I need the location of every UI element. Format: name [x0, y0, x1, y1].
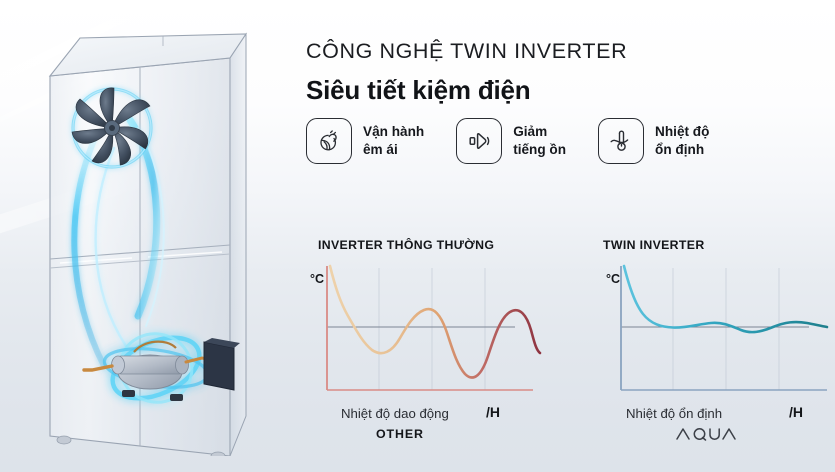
fridge-cabinet: [50, 34, 246, 456]
aqua-logo-icon: [675, 426, 737, 441]
chart-twin-inverter: TWIN INVERTER °C: [595, 238, 835, 472]
chart-brand-label-aqua: [675, 426, 737, 441]
eyebrow-title: CÔNG NGHỆ TWIN INVERTER: [306, 39, 627, 64]
chart-brand-label: OTHER: [376, 427, 424, 441]
chart-caption: Nhiệt độ ổn định: [626, 406, 722, 421]
feature-item-label: Giảm tiếng ồn: [513, 123, 566, 159]
feature-item-quiet-operation: Vận hành êm ái: [306, 118, 424, 164]
feature-item-label: Vận hành êm ái: [363, 123, 424, 159]
gridlines: [379, 268, 485, 390]
page-title: Siêu tiết kiệm điện: [306, 75, 531, 106]
x-axis-unit-label: /H: [789, 404, 803, 420]
refrigerator-illustration: [34, 16, 270, 456]
chart-title: INVERTER THÔNG THƯỜNG: [318, 238, 494, 252]
x-axis-unit-label: /H: [486, 404, 500, 420]
promo-banner: CÔNG NGHỆ TWIN INVERTER Siêu tiết kiệm đ…: [0, 0, 835, 472]
speaker-sound-icon: [456, 118, 502, 164]
feature-item-stable-temperature: Nhiệt độ ổn định: [598, 118, 709, 164]
feature-list: Vận hành êm ái Giảm tiếng ồn: [306, 118, 709, 164]
chart-caption: Nhiệt độ dao động: [341, 406, 449, 421]
thermometer-stable-icon: [598, 118, 644, 164]
feature-item-noise-reduction: Giảm tiếng ồn: [456, 118, 566, 164]
content-column: CÔNG NGHỆ TWIN INVERTER Siêu tiết kiệm đ…: [306, 0, 835, 472]
chart-conventional-inverter: INVERTER THÔNG THƯỜNG °C: [310, 238, 555, 472]
chart-plot-area: [310, 264, 555, 416]
temperature-curve: [330, 266, 540, 378]
feature-item-label: Nhiệt độ ổn định: [655, 123, 709, 159]
chart-plot-area: [595, 264, 835, 416]
gridlines: [673, 268, 779, 390]
temperature-curve: [624, 266, 827, 332]
comparison-charts: INVERTER THÔNG THƯỜNG °C: [306, 238, 835, 472]
chart-title: TWIN INVERTER: [603, 238, 705, 252]
eco-plug-leaf-icon: [306, 118, 352, 164]
